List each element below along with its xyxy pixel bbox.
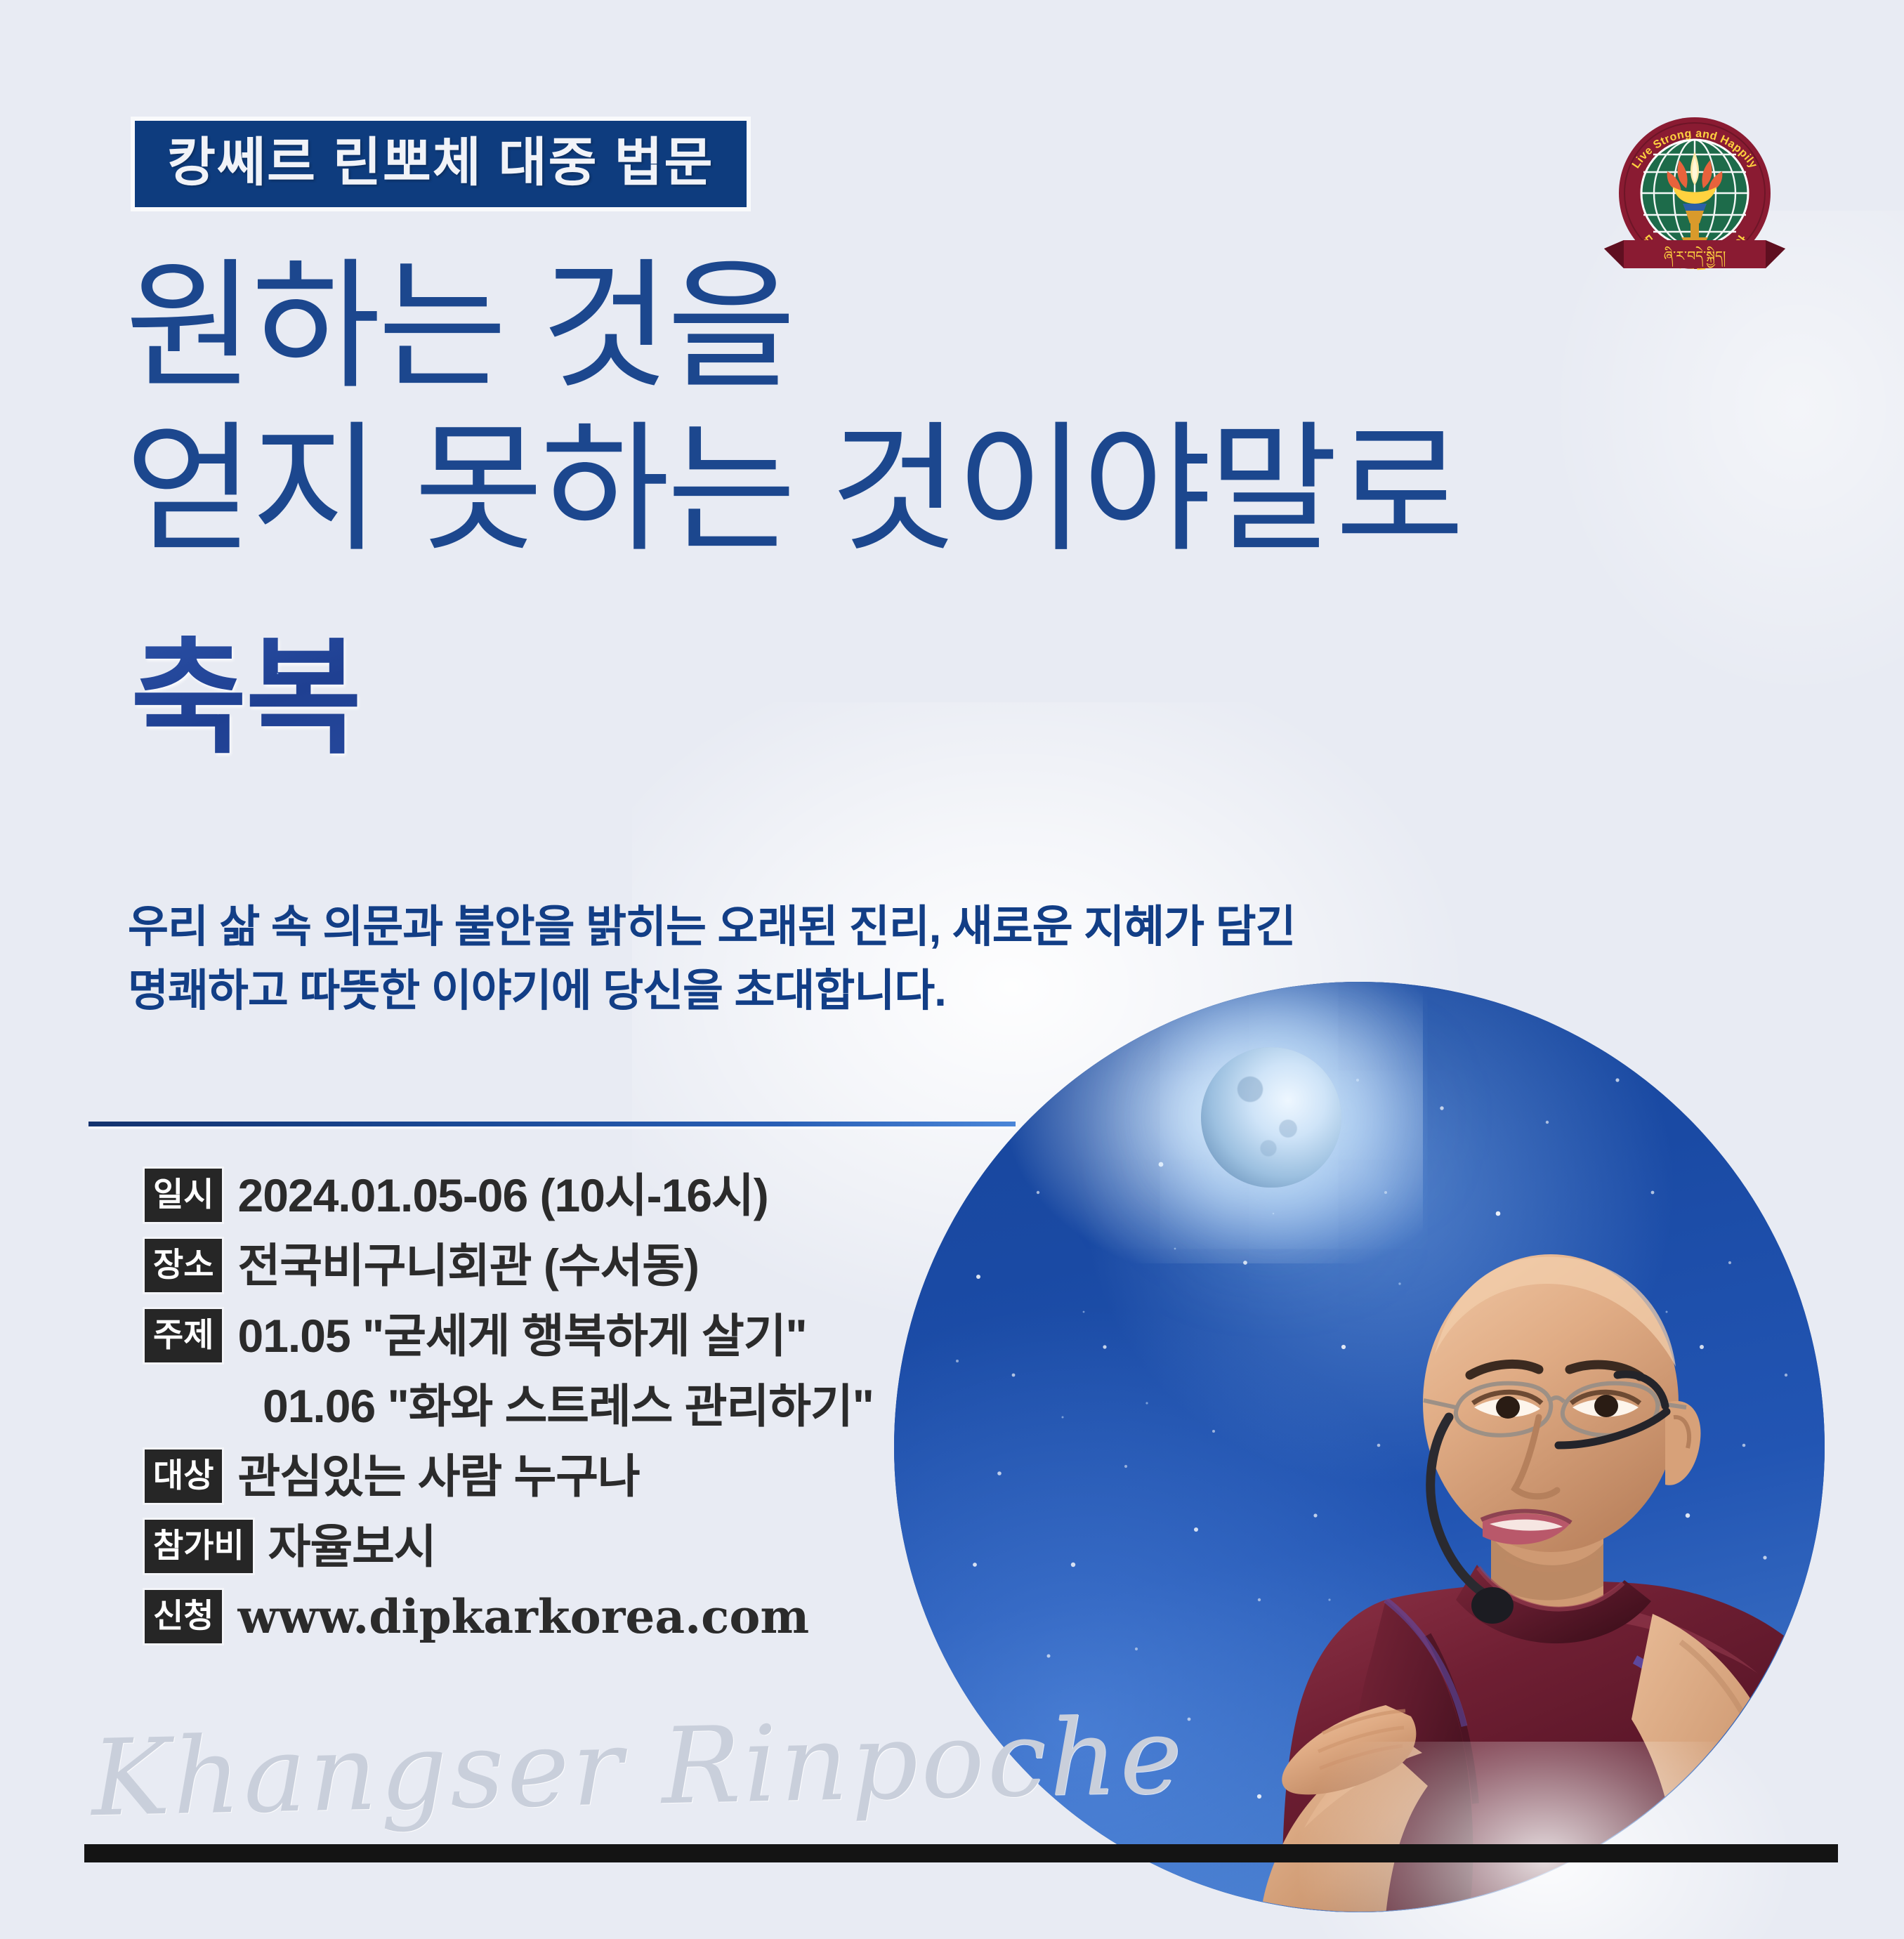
detail-row-topic-2: 01.06 "화와 스트레스 관리하기" <box>145 1376 874 1435</box>
details-list: 일시 2024.01.05-06 (10시-16시) 장소 전국비구니회관 (수… <box>145 1166 874 1657</box>
speaker-signature: Khangser Rinpoche <box>90 1695 1186 1841</box>
detail-value-fee: 자율보시 <box>268 1523 436 1570</box>
detail-value-venue: 전국비구니회관 (수서동) <box>237 1242 699 1289</box>
detail-label-registration: 신청 <box>145 1590 222 1643</box>
detail-value-topic-1: 01.05 "굳세게 행복하게 살기" <box>237 1313 806 1359</box>
detail-label-date: 일시 <box>145 1169 222 1222</box>
detail-row-topic-1: 주제 01.05 "굳세게 행복하게 살기" <box>145 1306 874 1365</box>
section-divider <box>88 1122 1016 1126</box>
detail-label-topic: 주제 <box>145 1309 222 1362</box>
detail-label-venue: 장소 <box>145 1239 222 1292</box>
detail-row-audience: 대상 관심있는 사람 누구나 <box>145 1447 874 1506</box>
description-line-1: 우리 삶 속 의문과 불안을 밝히는 오래된 진리, 새로운 지혜가 담긴 <box>128 895 1357 959</box>
detail-row-date: 일시 2024.01.05-06 (10시-16시) <box>145 1166 874 1225</box>
detail-label-fee: 참가비 <box>145 1520 253 1573</box>
detail-row-fee: 참가비 자율보시 <box>145 1517 874 1576</box>
header-badge-text: 캉쎄르 린뽀체 대중 법문 <box>167 136 714 189</box>
bottom-rule <box>84 1844 1838 1862</box>
headline-emphasis-block: 축복 <box>131 636 360 762</box>
detail-row-venue: 장소 전국비구니회관 (수서동) <box>145 1236 874 1295</box>
detail-value-audience: 관심있는 사람 누구나 <box>237 1453 639 1499</box>
poster-canvas: Live Strong and Happily 딥까르 불교센터 코리아 ཞི་… <box>0 0 1904 1939</box>
headline-line-1: 원하는 것을 <box>125 246 1670 409</box>
header-badge: 캉쎄르 린뽀체 대중 법문 <box>135 121 747 207</box>
detail-value-topic-2: 01.06 "화와 스트레스 관리하기" <box>263 1383 874 1429</box>
detail-value-date: 2024.01.05-06 (10시-16시) <box>237 1172 768 1218</box>
detail-row-registration: 신청 www.dipkarkorea.com <box>145 1587 874 1646</box>
headline-emphasis-text: 축복 <box>131 636 360 762</box>
headline-block: 원하는 것을 얻지 못하는 것이야말로 <box>125 246 1670 572</box>
detail-value-registration-url[interactable]: www.dipkarkorea.com <box>237 1593 809 1640</box>
detail-label-audience: 대상 <box>145 1450 222 1503</box>
headline-line-2: 얻지 못하는 것이야말로 <box>125 409 1670 572</box>
